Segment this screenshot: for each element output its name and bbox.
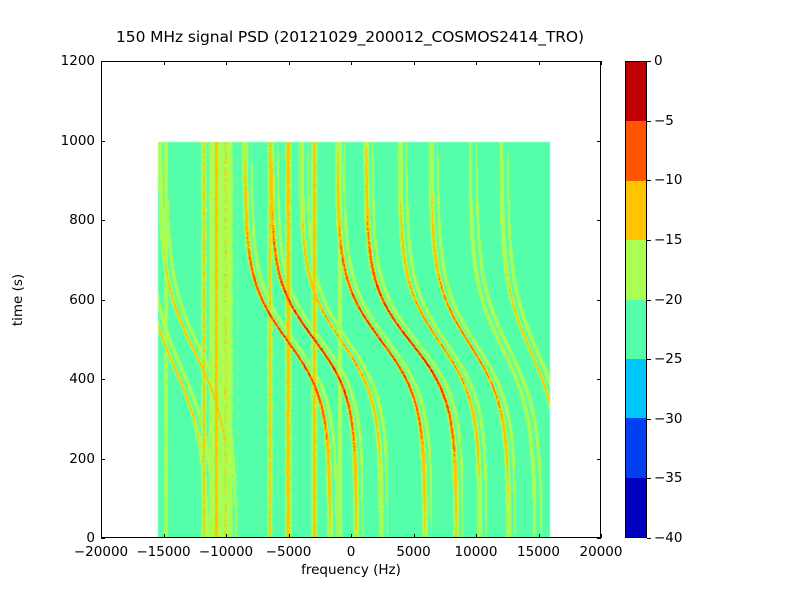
x-tick xyxy=(539,61,540,65)
y-tick xyxy=(101,61,105,62)
spectrogram-axes xyxy=(101,61,601,538)
x-axis-label: frequency (Hz) xyxy=(101,562,601,578)
y-tick-label: 0 xyxy=(86,530,95,546)
y-tick xyxy=(101,141,105,142)
x-tick-label: 0 xyxy=(347,544,356,560)
colorbar-tick-label: −30 xyxy=(654,411,683,427)
colorbar-tick-label: −35 xyxy=(654,470,683,486)
x-tick-label: 15000 xyxy=(517,544,560,560)
colorbar-tick xyxy=(647,121,651,122)
x-tick-label: −20000 xyxy=(74,544,128,560)
colorbar-tick-label: −40 xyxy=(654,530,683,546)
colorbar-tick-label: −25 xyxy=(654,351,683,367)
x-tick xyxy=(226,534,227,538)
colorbar-tick xyxy=(647,478,651,479)
y-tick-label: 800 xyxy=(69,212,95,228)
y-tick xyxy=(101,379,105,380)
colorbar-tick xyxy=(647,538,651,539)
x-tick xyxy=(226,61,227,65)
x-tick xyxy=(351,534,352,538)
y-tick-label: 600 xyxy=(69,292,95,308)
x-tick-label: −5000 xyxy=(266,544,312,560)
colorbar-tick-label: 0 xyxy=(654,53,663,69)
page-title: 150 MHz signal PSD (20121029_200012_COSM… xyxy=(0,28,700,46)
y-tick-label: 200 xyxy=(69,451,95,467)
x-tick xyxy=(289,534,290,538)
colorbar-band-6 xyxy=(626,418,646,477)
y-tick-label: 400 xyxy=(69,371,95,387)
colorbar-tick xyxy=(647,61,651,62)
x-tick xyxy=(351,61,352,65)
colorbar-band-2 xyxy=(626,181,646,240)
y-axis-label: time (s) xyxy=(10,274,26,326)
matplotlib-figure: 150 MHz signal PSD (20121029_200012_COSM… xyxy=(0,0,800,600)
colorbar-tick-label: −5 xyxy=(654,113,674,129)
colorbar-tick-label: −10 xyxy=(654,172,683,188)
y-tick xyxy=(101,459,105,460)
y-tick xyxy=(597,141,601,142)
colorbar-tick xyxy=(647,359,651,360)
y-tick xyxy=(101,300,105,301)
colorbar-band-0 xyxy=(626,62,646,121)
y-tick-label: 1000 xyxy=(61,133,95,149)
x-tick xyxy=(414,61,415,65)
y-tick xyxy=(101,538,105,539)
x-tick-label: 10000 xyxy=(455,544,498,560)
y-tick xyxy=(597,220,601,221)
y-tick xyxy=(597,61,601,62)
colorbar-band-3 xyxy=(626,240,646,299)
y-tick-label: 1200 xyxy=(61,53,95,69)
y-tick xyxy=(597,379,601,380)
x-tick xyxy=(539,534,540,538)
x-tick-label: −15000 xyxy=(136,544,190,560)
colorbar xyxy=(625,61,647,538)
y-tick xyxy=(101,220,105,221)
colorbar-band-4 xyxy=(626,300,646,359)
x-tick xyxy=(164,61,165,65)
x-tick xyxy=(601,61,602,65)
x-tick xyxy=(164,534,165,538)
x-tick xyxy=(476,61,477,65)
colorbar-tick xyxy=(647,180,651,181)
y-tick xyxy=(597,300,601,301)
y-tick xyxy=(597,459,601,460)
x-tick xyxy=(476,534,477,538)
colorbar-band-7 xyxy=(626,478,646,537)
colorbar-tick xyxy=(647,240,651,241)
x-tick xyxy=(289,61,290,65)
y-tick xyxy=(597,538,601,539)
x-tick xyxy=(414,534,415,538)
colorbar-tick-label: −15 xyxy=(654,232,683,248)
x-tick-label: 20000 xyxy=(580,544,623,560)
x-tick-label: −10000 xyxy=(199,544,253,560)
spectrogram-image xyxy=(102,62,601,538)
x-tick xyxy=(601,534,602,538)
x-tick-label: 5000 xyxy=(396,544,430,560)
colorbar-tick xyxy=(647,300,651,301)
colorbar-band-5 xyxy=(626,359,646,418)
colorbar-tick-label: −20 xyxy=(654,292,683,308)
colorbar-band-1 xyxy=(626,121,646,180)
colorbar-tick xyxy=(647,419,651,420)
